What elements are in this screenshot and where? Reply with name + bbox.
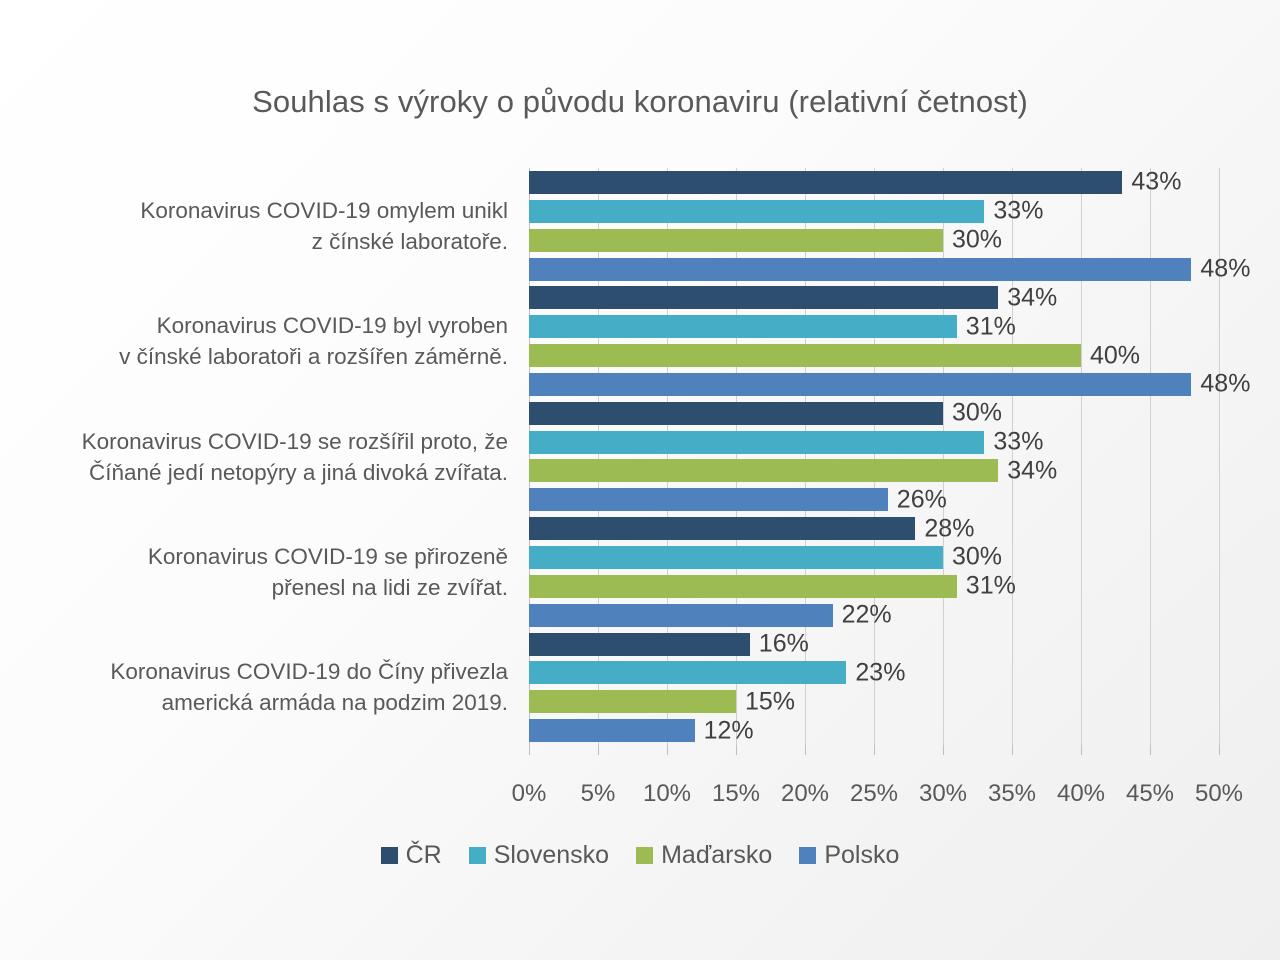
- x-axis-tick: [1081, 745, 1082, 755]
- x-axis-tick: [1150, 745, 1151, 755]
- legend-swatch-icon: [799, 847, 816, 864]
- bar-slot: 15%: [529, 687, 1219, 716]
- x-axis-tick-label: 25%: [834, 780, 914, 808]
- x-axis-tick: [943, 745, 944, 755]
- legend-label: ČR: [406, 841, 442, 870]
- bar-value-label: 34%: [998, 456, 1057, 485]
- bar-slot: 28%: [529, 514, 1219, 543]
- x-axis-tick-label: 45%: [1110, 780, 1190, 808]
- bar[interactable]: [529, 604, 833, 627]
- x-axis-tick-label: 35%: [972, 780, 1052, 808]
- x-axis-tick-label: 40%: [1041, 780, 1121, 808]
- bar-slot: 34%: [529, 283, 1219, 312]
- bar[interactable]: [529, 171, 1122, 194]
- bar-value-label: 34%: [998, 283, 1057, 312]
- bar-value-label: 33%: [984, 428, 1043, 457]
- bar-slot: 30%: [529, 226, 1219, 255]
- bar[interactable]: [529, 286, 998, 309]
- bar[interactable]: [529, 690, 736, 713]
- bar[interactable]: [529, 200, 984, 223]
- category-label-line: americká armáda na podzim 2019.: [8, 687, 508, 718]
- bar-group: 16%23%15%12%: [529, 630, 1219, 745]
- bar-value-label: 15%: [736, 687, 795, 716]
- x-axis-tick: [736, 745, 737, 755]
- x-axis-tick-label: 20%: [765, 780, 845, 808]
- category-label-line: přenesl na lidi ze zvířat.: [8, 572, 508, 603]
- category-label: Koronavirus COVID-19 do Číny přivezlaame…: [8, 656, 508, 718]
- x-axis-tick: [529, 745, 530, 755]
- bar-value-label: 48%: [1191, 254, 1250, 283]
- legend-item-ma-arsko[interactable]: Maďarsko: [636, 841, 772, 870]
- category-label: Koronavirus COVID-19 se přirozeněpřenesl…: [8, 541, 508, 603]
- legend-item--r[interactable]: ČR: [381, 841, 442, 870]
- bar-value-label: 23%: [846, 658, 905, 687]
- bar[interactable]: [529, 719, 695, 742]
- bar-value-label: 26%: [888, 485, 947, 514]
- legend-swatch-icon: [469, 847, 486, 864]
- x-axis-tick-label: 15%: [696, 780, 776, 808]
- bar-slot: 12%: [529, 716, 1219, 745]
- bar-slot: 22%: [529, 601, 1219, 630]
- bar[interactable]: [529, 258, 1191, 281]
- bar-slot: 30%: [529, 543, 1219, 572]
- bar-value-label: 33%: [984, 197, 1043, 226]
- bar[interactable]: [529, 517, 915, 540]
- bar[interactable]: [529, 344, 1081, 367]
- bar[interactable]: [529, 546, 943, 569]
- legend-item-slovensko[interactable]: Slovensko: [469, 841, 609, 870]
- category-label-line: Koronavirus COVID-19 omylem unikl: [8, 195, 508, 226]
- category-label-line: Koronavirus COVID-19 se přirozeně: [8, 541, 508, 572]
- slide-canvas: Souhlas s výroky o původu koronaviru (re…: [0, 0, 1280, 960]
- bar-group: 30%33%34%26%: [529, 399, 1219, 514]
- bar-slot: 34%: [529, 456, 1219, 485]
- bar-value-label: 16%: [750, 630, 809, 659]
- legend-label: Polsko: [824, 841, 899, 870]
- category-label-line: Číňané jedí netopýry a jiná divoká zvířa…: [8, 457, 508, 488]
- bar-slot: 16%: [529, 630, 1219, 659]
- bar-slot: 48%: [529, 255, 1219, 284]
- bar-slot: 40%: [529, 341, 1219, 370]
- bar-value-label: 22%: [833, 601, 892, 630]
- bar-slot: 43%: [529, 168, 1219, 197]
- bar-value-label: 40%: [1081, 341, 1140, 370]
- bar-value-label: 31%: [957, 312, 1016, 341]
- bar-value-label: 12%: [695, 716, 754, 745]
- category-label-line: Koronavirus COVID-19 se rozšířil proto, …: [8, 426, 508, 457]
- chart-legend: ČRSlovenskoMaďarskoPolsko: [0, 841, 1280, 870]
- legend-label: Maďarsko: [661, 841, 772, 870]
- bar-group: 43%33%30%48%: [529, 168, 1219, 283]
- bar-slot: 23%: [529, 658, 1219, 687]
- bar[interactable]: [529, 633, 750, 656]
- legend-label: Slovensko: [494, 841, 609, 870]
- bar-value-label: 31%: [957, 572, 1016, 601]
- category-label: Koronavirus COVID-19 byl vyrobenv čínské…: [8, 310, 508, 372]
- x-axis-tick-label: 30%: [903, 780, 983, 808]
- bar-slot: 48%: [529, 370, 1219, 399]
- bar[interactable]: [529, 575, 957, 598]
- bar[interactable]: [529, 402, 943, 425]
- x-axis-tick-label: 5%: [558, 780, 638, 808]
- bar[interactable]: [529, 373, 1191, 396]
- bar-slot: 31%: [529, 312, 1219, 341]
- bar-slot: 33%: [529, 197, 1219, 226]
- bar[interactable]: [529, 459, 998, 482]
- x-axis-tick: [1012, 745, 1013, 755]
- category-label-line: z čínské laboratoře.: [8, 226, 508, 257]
- bar-slot: 31%: [529, 572, 1219, 601]
- legend-swatch-icon: [381, 847, 398, 864]
- bar-value-label: 43%: [1122, 168, 1181, 197]
- category-label-line: Koronavirus COVID-19 do Číny přivezla: [8, 656, 508, 687]
- x-axis-tick: [874, 745, 875, 755]
- bar[interactable]: [529, 488, 888, 511]
- category-label: Koronavirus COVID-19 se rozšířil proto, …: [8, 426, 508, 488]
- bar-value-label: 30%: [943, 399, 1002, 428]
- legend-swatch-icon: [636, 847, 653, 864]
- category-label-line: v čínské laboratoři a rozšířen záměrně.: [8, 341, 508, 372]
- chart-plot-area: 43%33%30%48%34%31%40%48%30%33%34%26%28%3…: [529, 168, 1219, 745]
- x-axis-tick-label: 50%: [1179, 780, 1259, 808]
- bar-value-label: 48%: [1191, 370, 1250, 399]
- bar-slot: 26%: [529, 485, 1219, 514]
- bar-value-label: 28%: [915, 514, 974, 543]
- x-axis-tick: [598, 745, 599, 755]
- bar-group: 34%31%40%48%: [529, 283, 1219, 398]
- bar-value-label: 30%: [943, 543, 1002, 572]
- category-label: Koronavirus COVID-19 omylem uniklz čínsk…: [8, 195, 508, 257]
- bar[interactable]: [529, 661, 846, 684]
- bar[interactable]: [529, 229, 943, 252]
- bar[interactable]: [529, 315, 957, 338]
- page-title: Souhlas s výroky o původu koronaviru (re…: [0, 84, 1280, 120]
- bar[interactable]: [529, 431, 984, 454]
- category-label-line: Koronavirus COVID-19 byl vyroben: [8, 310, 508, 341]
- x-axis-tick: [805, 745, 806, 755]
- bar-value-label: 30%: [943, 226, 1002, 255]
- bar-slot: 30%: [529, 399, 1219, 428]
- x-axis-tick-label: 10%: [627, 780, 707, 808]
- bar-slot: 33%: [529, 428, 1219, 457]
- x-axis-tick: [1219, 745, 1220, 755]
- bar-group: 28%30%31%22%: [529, 514, 1219, 629]
- legend-item-polsko[interactable]: Polsko: [799, 841, 899, 870]
- x-axis-tick-label: 0%: [489, 780, 569, 808]
- x-axis-tick: [667, 745, 668, 755]
